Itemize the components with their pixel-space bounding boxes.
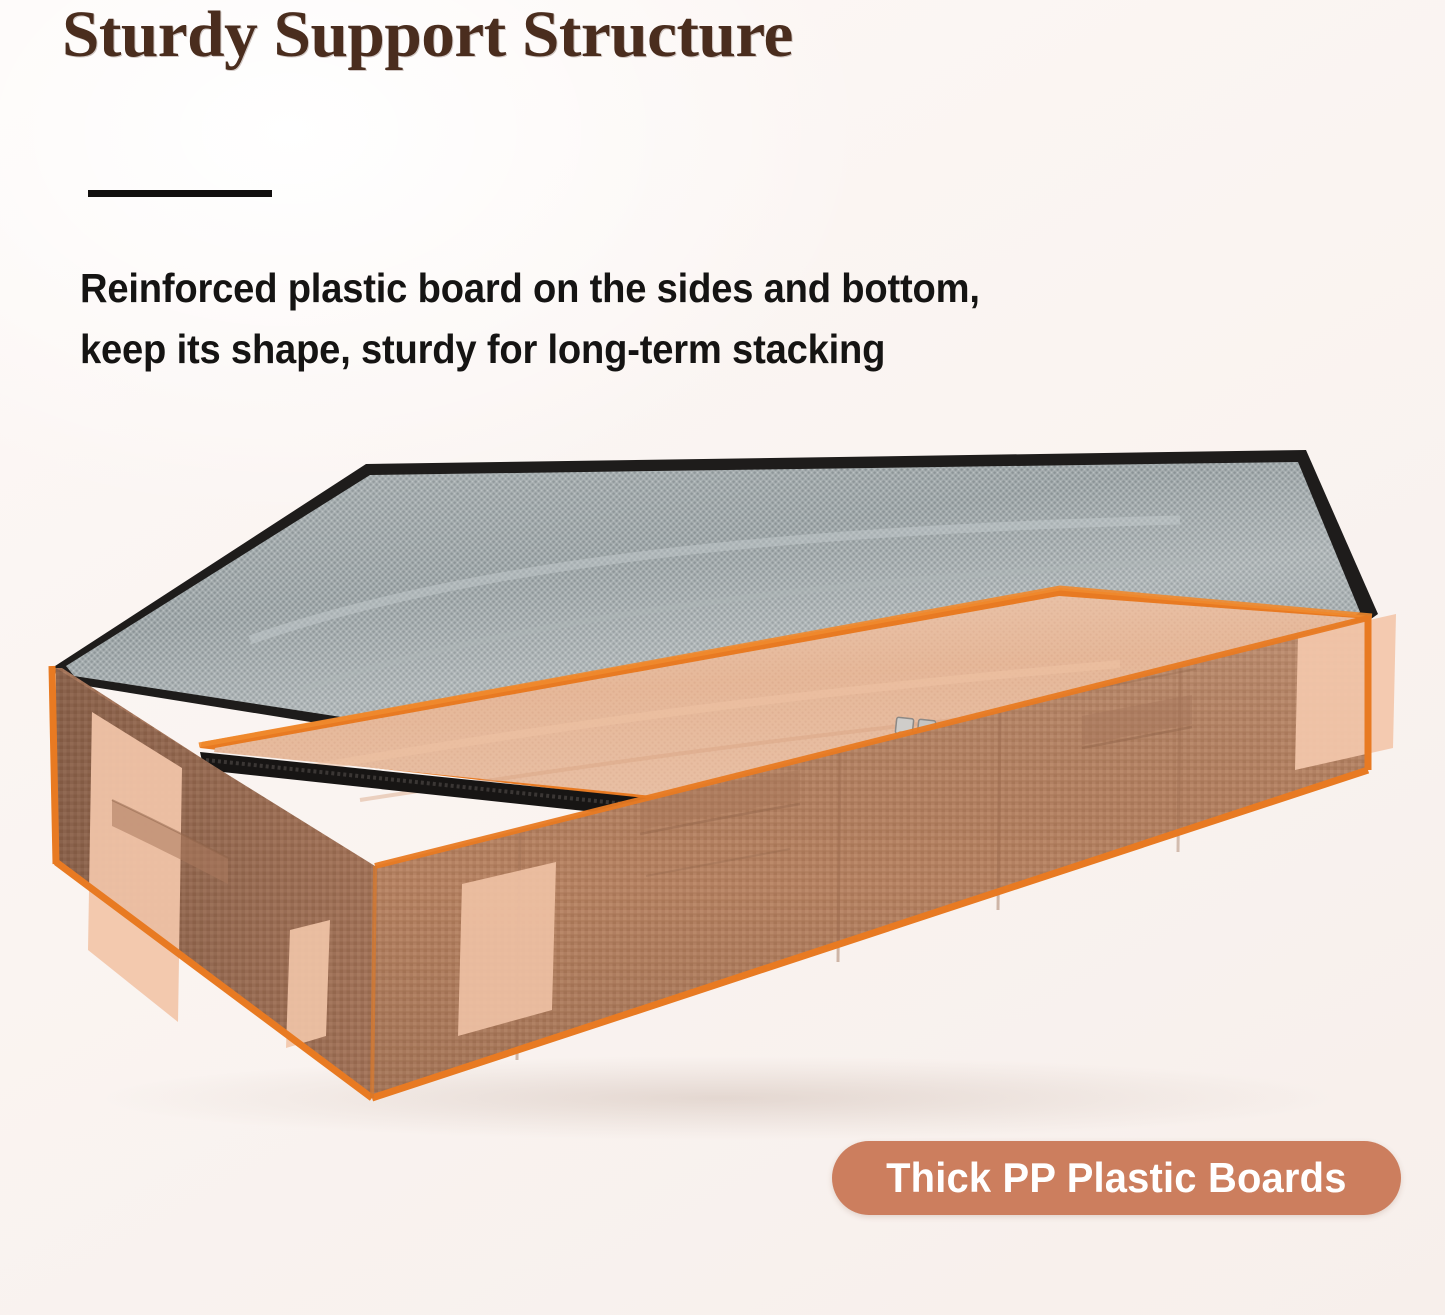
drop-shadow xyxy=(100,1056,1340,1140)
front-seam-2 xyxy=(838,750,840,962)
label-window-patch xyxy=(458,862,556,1036)
feature-badge: Thick PP Plastic Boards xyxy=(832,1141,1401,1215)
product-illustration xyxy=(0,0,1445,1315)
label-window-patch xyxy=(1295,614,1396,770)
page-title: Sturdy Support Structure xyxy=(62,2,793,68)
label-window-patch xyxy=(286,920,330,1048)
feature-badge-label: Thick PP Plastic Boards xyxy=(886,1154,1346,1202)
orange-piping-top-left xyxy=(52,666,56,864)
title-divider xyxy=(88,190,272,197)
front-seam-3 xyxy=(998,712,1000,910)
feature-description: Reinforced plastic board on the sides an… xyxy=(80,258,1010,379)
front-seam-4 xyxy=(1178,668,1180,852)
